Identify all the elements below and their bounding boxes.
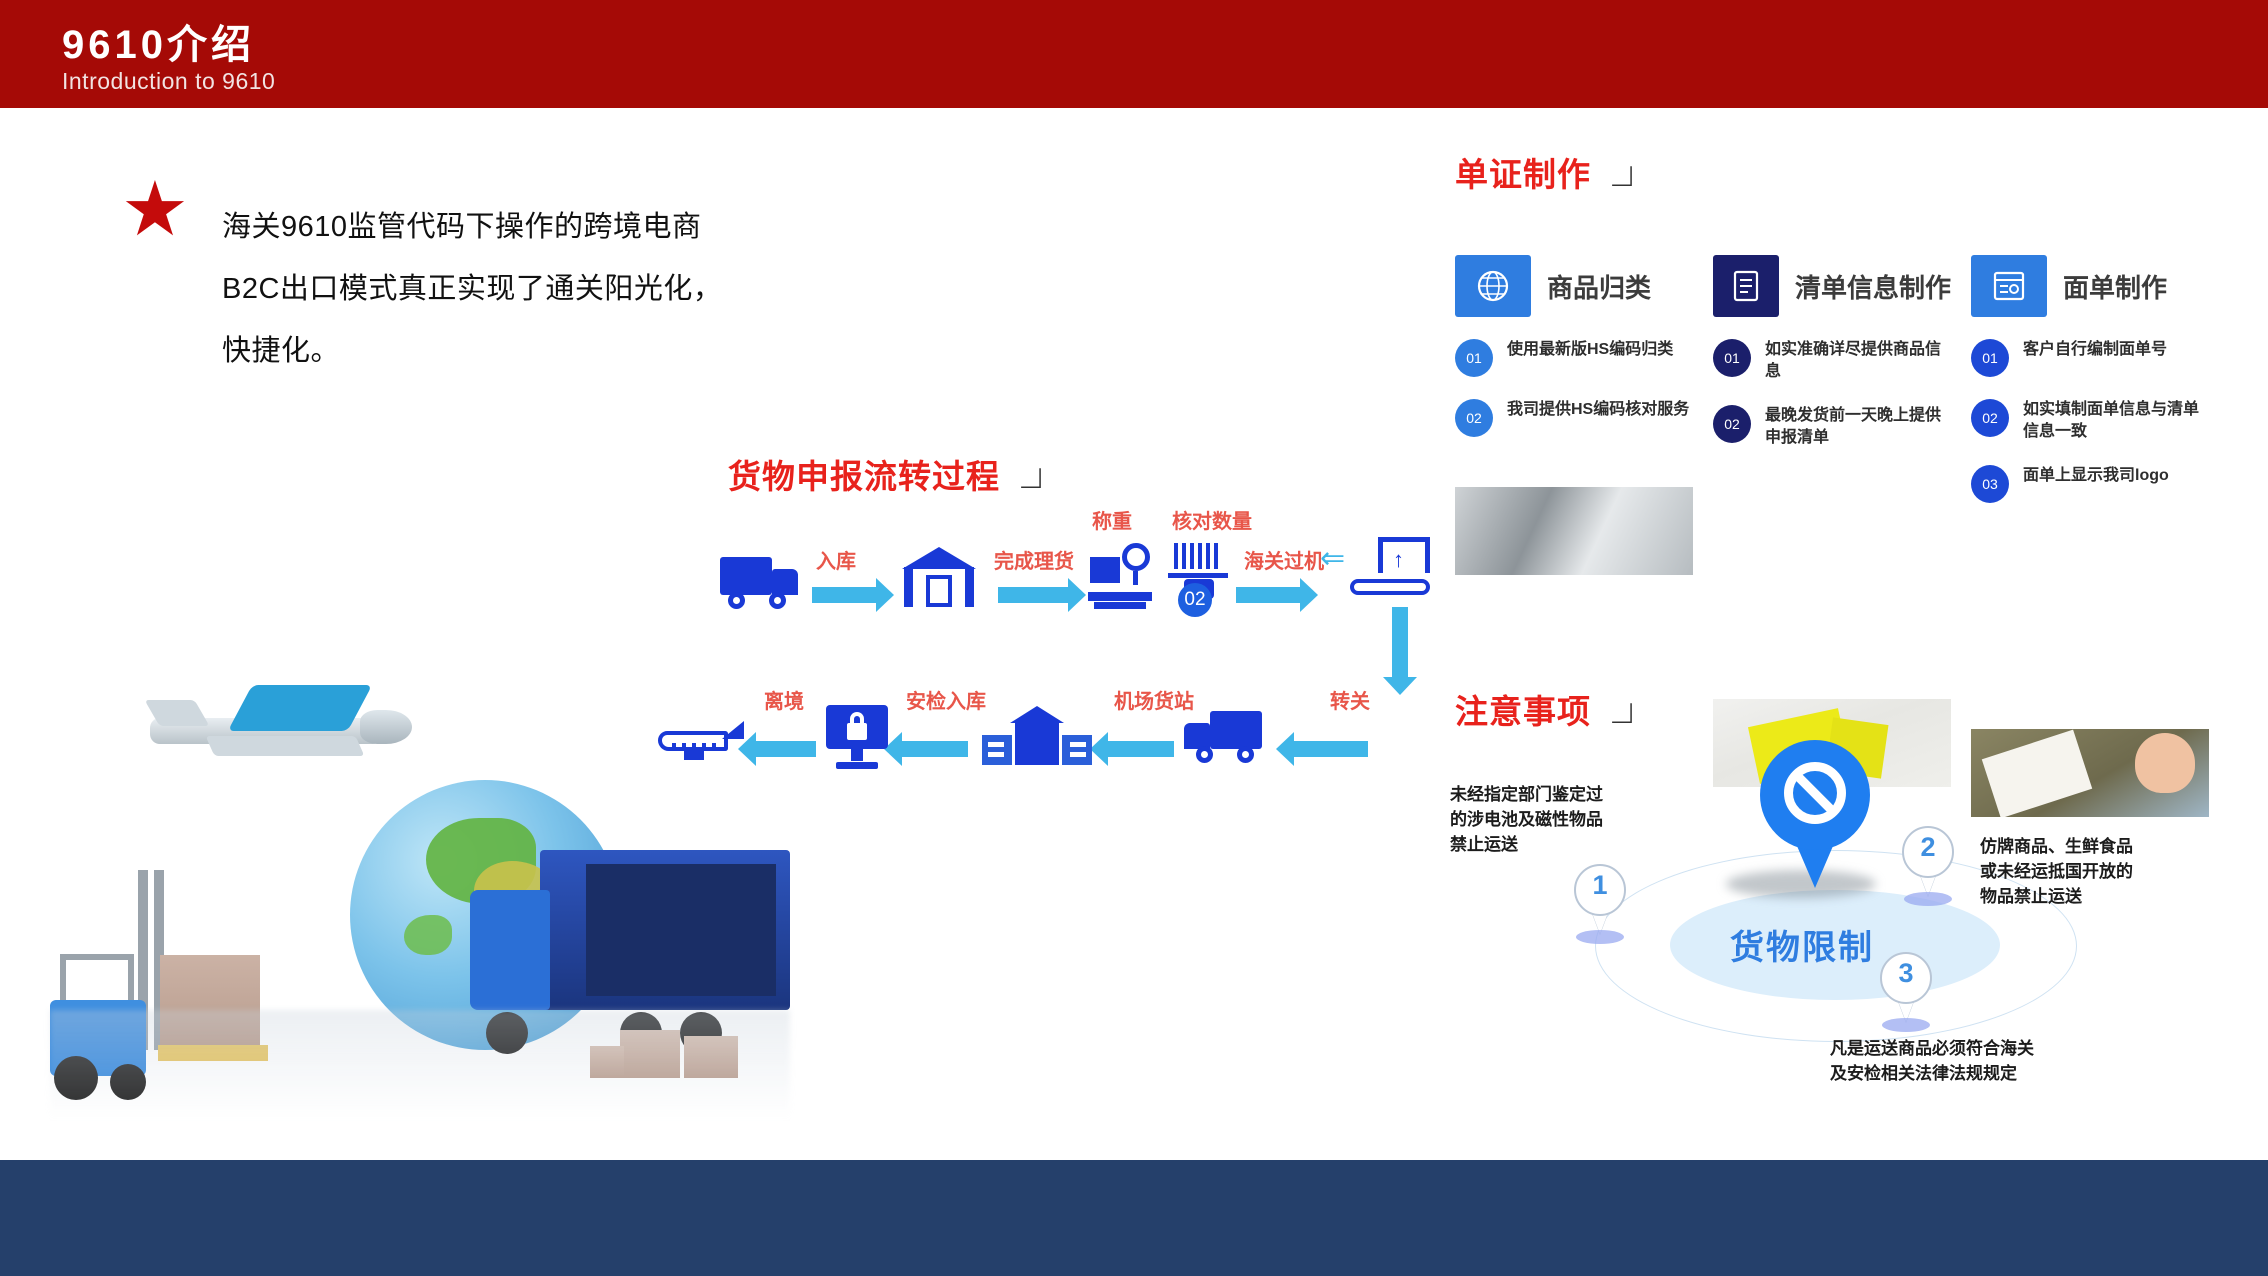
bullet-text: 客户自行编制面单号 (2023, 339, 2167, 361)
notes-section-title-text: 注意事项 (1455, 693, 1591, 730)
cargo-restriction-diagram: 货物限制 1 未经指定部门鉴定过 的涉电池及磁性物品 禁止运送 2 仿牌商品、生… (1440, 730, 2240, 1080)
note-pin-number: 3 (1880, 958, 1932, 989)
card-header: 商品归类 (1455, 255, 1693, 317)
flow-section-title: 货物申报流转过程∟ (728, 450, 1047, 498)
note-text-3: 凡是运送商品必须符合海关 及安检相关法律法规规定 (1830, 1036, 2034, 1086)
flow-arrow-8 (754, 741, 816, 757)
card-bullet: 02 我司提供HS编码核对服务 (1455, 399, 1693, 437)
intro-line-3: 快捷化。 (222, 320, 802, 382)
note-line: 禁止运送 (1450, 832, 1603, 857)
bullet-text: 使用最新版HS编码归类 (1507, 339, 1673, 361)
barcode-scanner-icon: 02 (1168, 543, 1228, 605)
card-bullet: 03 面单上显示我司logo (1971, 465, 2209, 503)
flow-label-3: 核对数量 (1172, 505, 1252, 534)
xray-machine-icon: ↑ (1350, 537, 1430, 595)
docs-section-title-text: 单证制作 (1455, 156, 1591, 193)
delivery-truck-icon (1184, 711, 1262, 763)
flow-arrow-down (1392, 607, 1408, 679)
note-pin-3: 3 (1880, 952, 1932, 1024)
bullet-text: 我司提供HS编码核对服务 (1507, 399, 1689, 421)
card-header: 清单信息制作 (1713, 255, 1951, 317)
note-line: 及安检相关法律法规规定 (1830, 1061, 2034, 1086)
document-list-icon (1713, 255, 1779, 317)
bullet-text: 面单上显示我司logo (2023, 465, 2169, 487)
slide-footer (0, 1160, 2268, 1276)
corner-mark-icon: ∟ (1605, 156, 1638, 194)
note-pin-2: 2 (1902, 826, 1954, 898)
card-header: 面单制作 (1971, 255, 2209, 317)
bullet-number: 02 (1971, 399, 2009, 437)
cargo-declaration-flow-diagram: 入库 完成理货 称重 核对数量 02 海关过机 ⇐ ↑ 转关 机场货站 (720, 515, 1430, 825)
notes-section-title: 注意事项∟ (1455, 685, 1638, 733)
bullet-number: 01 (1455, 339, 1493, 377)
flow-label-7: 安检入库 (906, 685, 986, 714)
flow-arrow-5 (1292, 741, 1368, 757)
bullet-number: 03 (1971, 465, 2009, 503)
card-bullet: 01 如实准确详尽提供商品信息 (1713, 339, 1951, 383)
star-icon: ★ (118, 175, 192, 249)
flow-arrow-0 (812, 587, 878, 603)
card-bullet: 02 最晚发货前一天晚上提供申报清单 (1713, 405, 1951, 449)
page-subtitle: Introduction to 9610 (62, 68, 275, 95)
flow-label-6: 机场货站 (1114, 685, 1194, 714)
flow-label-5: 转关 (1330, 685, 1370, 714)
reflection-effect (50, 1010, 790, 1120)
card-product-classification[interactable]: 商品归类 01 使用最新版HS编码归类 02 我司提供HS编码核对服务 (1455, 255, 1693, 437)
card-manifest-preparation[interactable]: 清单信息制作 01 如实准确详尽提供商品信息 02 最晚发货前一天晚上提供申报清… (1713, 255, 1951, 537)
note-line: 的涉电池及磁性物品 (1450, 807, 1603, 832)
left-chevron-icon: ⇐ (1320, 541, 1345, 576)
bullet-number: 02 (1455, 399, 1493, 437)
card-title: 清单信息制作 (1795, 268, 1951, 305)
flow-label-1: 完成理货 (994, 545, 1074, 574)
document-cards: 商品归类 01 使用最新版HS编码归类 02 我司提供HS编码核对服务 清单信息… (1455, 255, 2215, 585)
note-line: 仿牌商品、生鲜食品 (1980, 834, 2133, 859)
globe-network-icon (1455, 255, 1531, 317)
cargo-restriction-label: 货物限制 (1730, 920, 1874, 969)
docs-section-title: 单证制作∟ (1455, 148, 1638, 196)
note-line: 凡是运送商品必须符合海关 (1830, 1036, 2034, 1061)
flow-section-title-text: 货物申报流转过程 (728, 458, 1000, 495)
bullet-number: 01 (1713, 339, 1751, 377)
card-bullet: 01 客户自行编制面单号 (1971, 339, 2209, 377)
flow-arrow-7 (900, 741, 968, 757)
card-bullet: 02 如实填制面单信息与清单信息一致 (1971, 399, 2209, 443)
note-pin-number: 2 (1902, 832, 1954, 863)
flow-label-8: 离境 (764, 685, 804, 714)
card-title: 商品归类 (1547, 268, 1651, 305)
corner-mark-icon: ∟ (1014, 458, 1047, 496)
note-pin-number: 1 (1574, 870, 1626, 901)
bullet-number: 01 (1971, 339, 2009, 377)
note-text-1: 未经指定部门鉴定过 的涉电池及磁性物品 禁止运送 (1450, 782, 1603, 857)
slide-header: 9610介绍 Introduction to 9610 (0, 0, 2268, 108)
bullet-number: 02 (1713, 405, 1751, 443)
flow-label-0: 入库 (816, 545, 856, 574)
flow-arrow-1 (998, 587, 1070, 603)
intro-paragraph: 海关9610监管代码下操作的跨境电商 B2C出口模式真正实现了通关阳光化， 快捷… (222, 196, 802, 382)
no-entry-pin-icon (1760, 740, 1870, 890)
waybill-icon (1971, 255, 2047, 317)
flow-label-2: 称重 (1092, 505, 1132, 534)
card-title: 面单制作 (2063, 268, 2167, 305)
bullet-text: 最晚发货前一天晚上提供申报清单 (1765, 405, 1951, 449)
corner-mark-icon: ∟ (1605, 693, 1638, 731)
airplane-illustration (110, 680, 410, 770)
note-line: 或未经运抵国开放的 (1980, 859, 2133, 884)
truck-icon (720, 557, 798, 609)
airplane-icon (658, 721, 744, 761)
bullet-text: 如实填制面单信息与清单信息一致 (2023, 399, 2209, 443)
cargo-terminal-icon (982, 707, 1092, 765)
note-line: 物品禁止运送 (1980, 884, 2133, 909)
scanner-badge: 02 (1178, 583, 1212, 617)
note-text-2: 仿牌商品、生鲜食品 或未经运抵国开放的 物品禁止运送 (1980, 834, 2133, 909)
intro-line-2: B2C出口模式真正实现了通关阳光化， (222, 258, 802, 320)
scale-icon (1088, 543, 1152, 609)
intro-line-1: 海关9610监管代码下操作的跨境电商 (222, 196, 802, 258)
flow-label-4: 海关过机 (1244, 545, 1324, 574)
warehouse-icon (902, 547, 976, 607)
bullet-text: 如实准确详尽提供商品信息 (1765, 339, 1951, 383)
office-building-photo (1455, 487, 1693, 575)
slide-root: 9610介绍 Introduction to 9610 ★ 海关9610监管代码… (0, 0, 2268, 1276)
note-pin-1: 1 (1574, 864, 1626, 936)
flow-arrow-3 (1236, 587, 1302, 603)
flow-arrow-6 (1106, 741, 1174, 757)
page-title: 9610介绍 (62, 12, 255, 70)
security-lock-icon (826, 705, 888, 769)
note-line: 未经指定部门鉴定过 (1450, 782, 1603, 807)
card-bullet: 01 使用最新版HS编码归类 (1455, 339, 1693, 377)
card-waybill-preparation[interactable]: 面单制作 01 客户自行编制面单号 02 如实填制面单信息与清单信息一致 03 … (1971, 255, 2209, 591)
